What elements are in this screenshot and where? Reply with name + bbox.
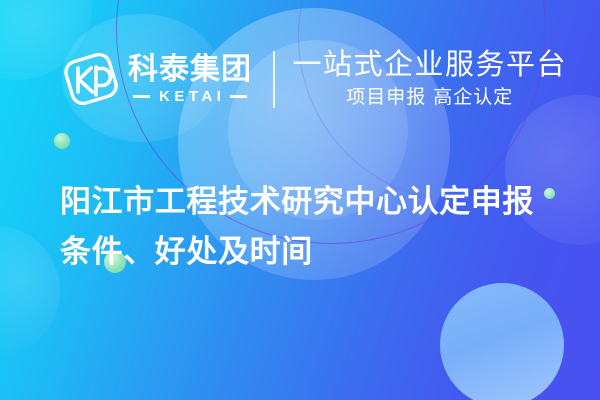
banner-header: 科泰集团 KETAI 一站式企业服务平台 项目申报 高企认定 bbox=[0, 36, 600, 122]
header-divider bbox=[273, 51, 275, 108]
decorative-dot-green-upper bbox=[54, 133, 70, 149]
decorative-circle-bottom-right bbox=[440, 283, 564, 400]
page-title-line-2: 条件、好处及时间 bbox=[60, 227, 560, 277]
tagline-primary: 一站式企业服务平台 bbox=[293, 49, 568, 80]
decorative-circle-bottom-left bbox=[0, 226, 60, 356]
page-title-line-1: 阳江市工程技术研究中心认定申报 bbox=[60, 177, 560, 227]
brand-logo-wordmark: 科泰集团 KETAI bbox=[128, 55, 252, 104]
promo-banner: 科泰集团 KETAI 一站式企业服务平台 项目申报 高企认定 阳江市工程技术研究… bbox=[0, 0, 600, 400]
brand-name-cn: 科泰集团 bbox=[128, 55, 252, 85]
brand-logo: 科泰集团 KETAI bbox=[62, 48, 252, 110]
tagline-secondary: 项目申报 高企认定 bbox=[346, 87, 513, 109]
brand-name-en: KETAI bbox=[155, 89, 226, 104]
brand-name-en-row: KETAI bbox=[133, 89, 248, 104]
wordmark-rule-left bbox=[133, 95, 150, 98]
tagline-block: 一站式企业服务平台 项目申报 高企认定 bbox=[293, 49, 568, 108]
page-title: 阳江市工程技术研究中心认定申报 条件、好处及时间 bbox=[60, 177, 560, 277]
ketai-kp-monogram-icon bbox=[62, 48, 120, 110]
wordmark-rule-right bbox=[230, 95, 247, 98]
